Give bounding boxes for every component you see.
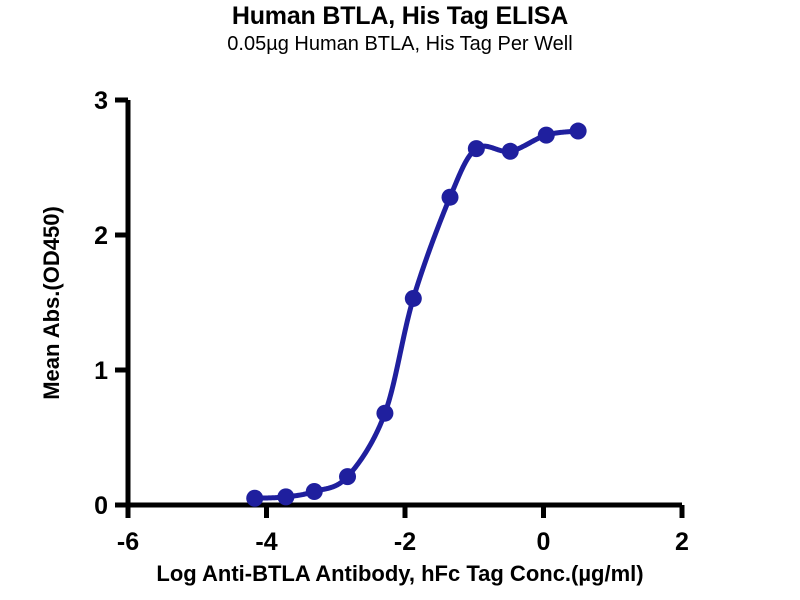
fit-curve — [255, 131, 578, 498]
data-point — [339, 468, 356, 485]
x-tick-label: -2 — [394, 528, 416, 556]
elisa-chart-figure: Human BTLA, His Tag ELISA 0.05µg Human B… — [0, 0, 800, 600]
axes-group: -6-4-2020123 — [94, 87, 689, 556]
data-point — [405, 290, 422, 307]
x-tick-label: 2 — [675, 528, 689, 556]
data-point — [570, 123, 587, 140]
data-point — [246, 490, 263, 507]
x-tick-label: -4 — [255, 528, 277, 556]
data-point — [376, 405, 393, 422]
y-tick-label: 3 — [94, 87, 108, 115]
data-point — [538, 127, 555, 144]
y-tick-label: 0 — [94, 492, 108, 520]
x-axis-label: Log Anti-BTLA Antibody, hFc Tag Conc.(µg… — [0, 561, 800, 587]
x-tick-label: 0 — [537, 528, 551, 556]
series-group — [246, 123, 586, 507]
y-tick-label: 1 — [94, 357, 108, 385]
data-point — [468, 140, 485, 157]
data-point — [306, 483, 323, 500]
plot-area: -6-4-2020123 — [0, 0, 800, 600]
y-tick-label: 2 — [94, 222, 108, 250]
data-point — [502, 143, 519, 160]
data-point — [442, 189, 459, 206]
data-point — [277, 488, 294, 505]
y-axis-label: Mean Abs.(OD450) — [39, 133, 65, 473]
x-tick-label: -6 — [117, 528, 139, 556]
